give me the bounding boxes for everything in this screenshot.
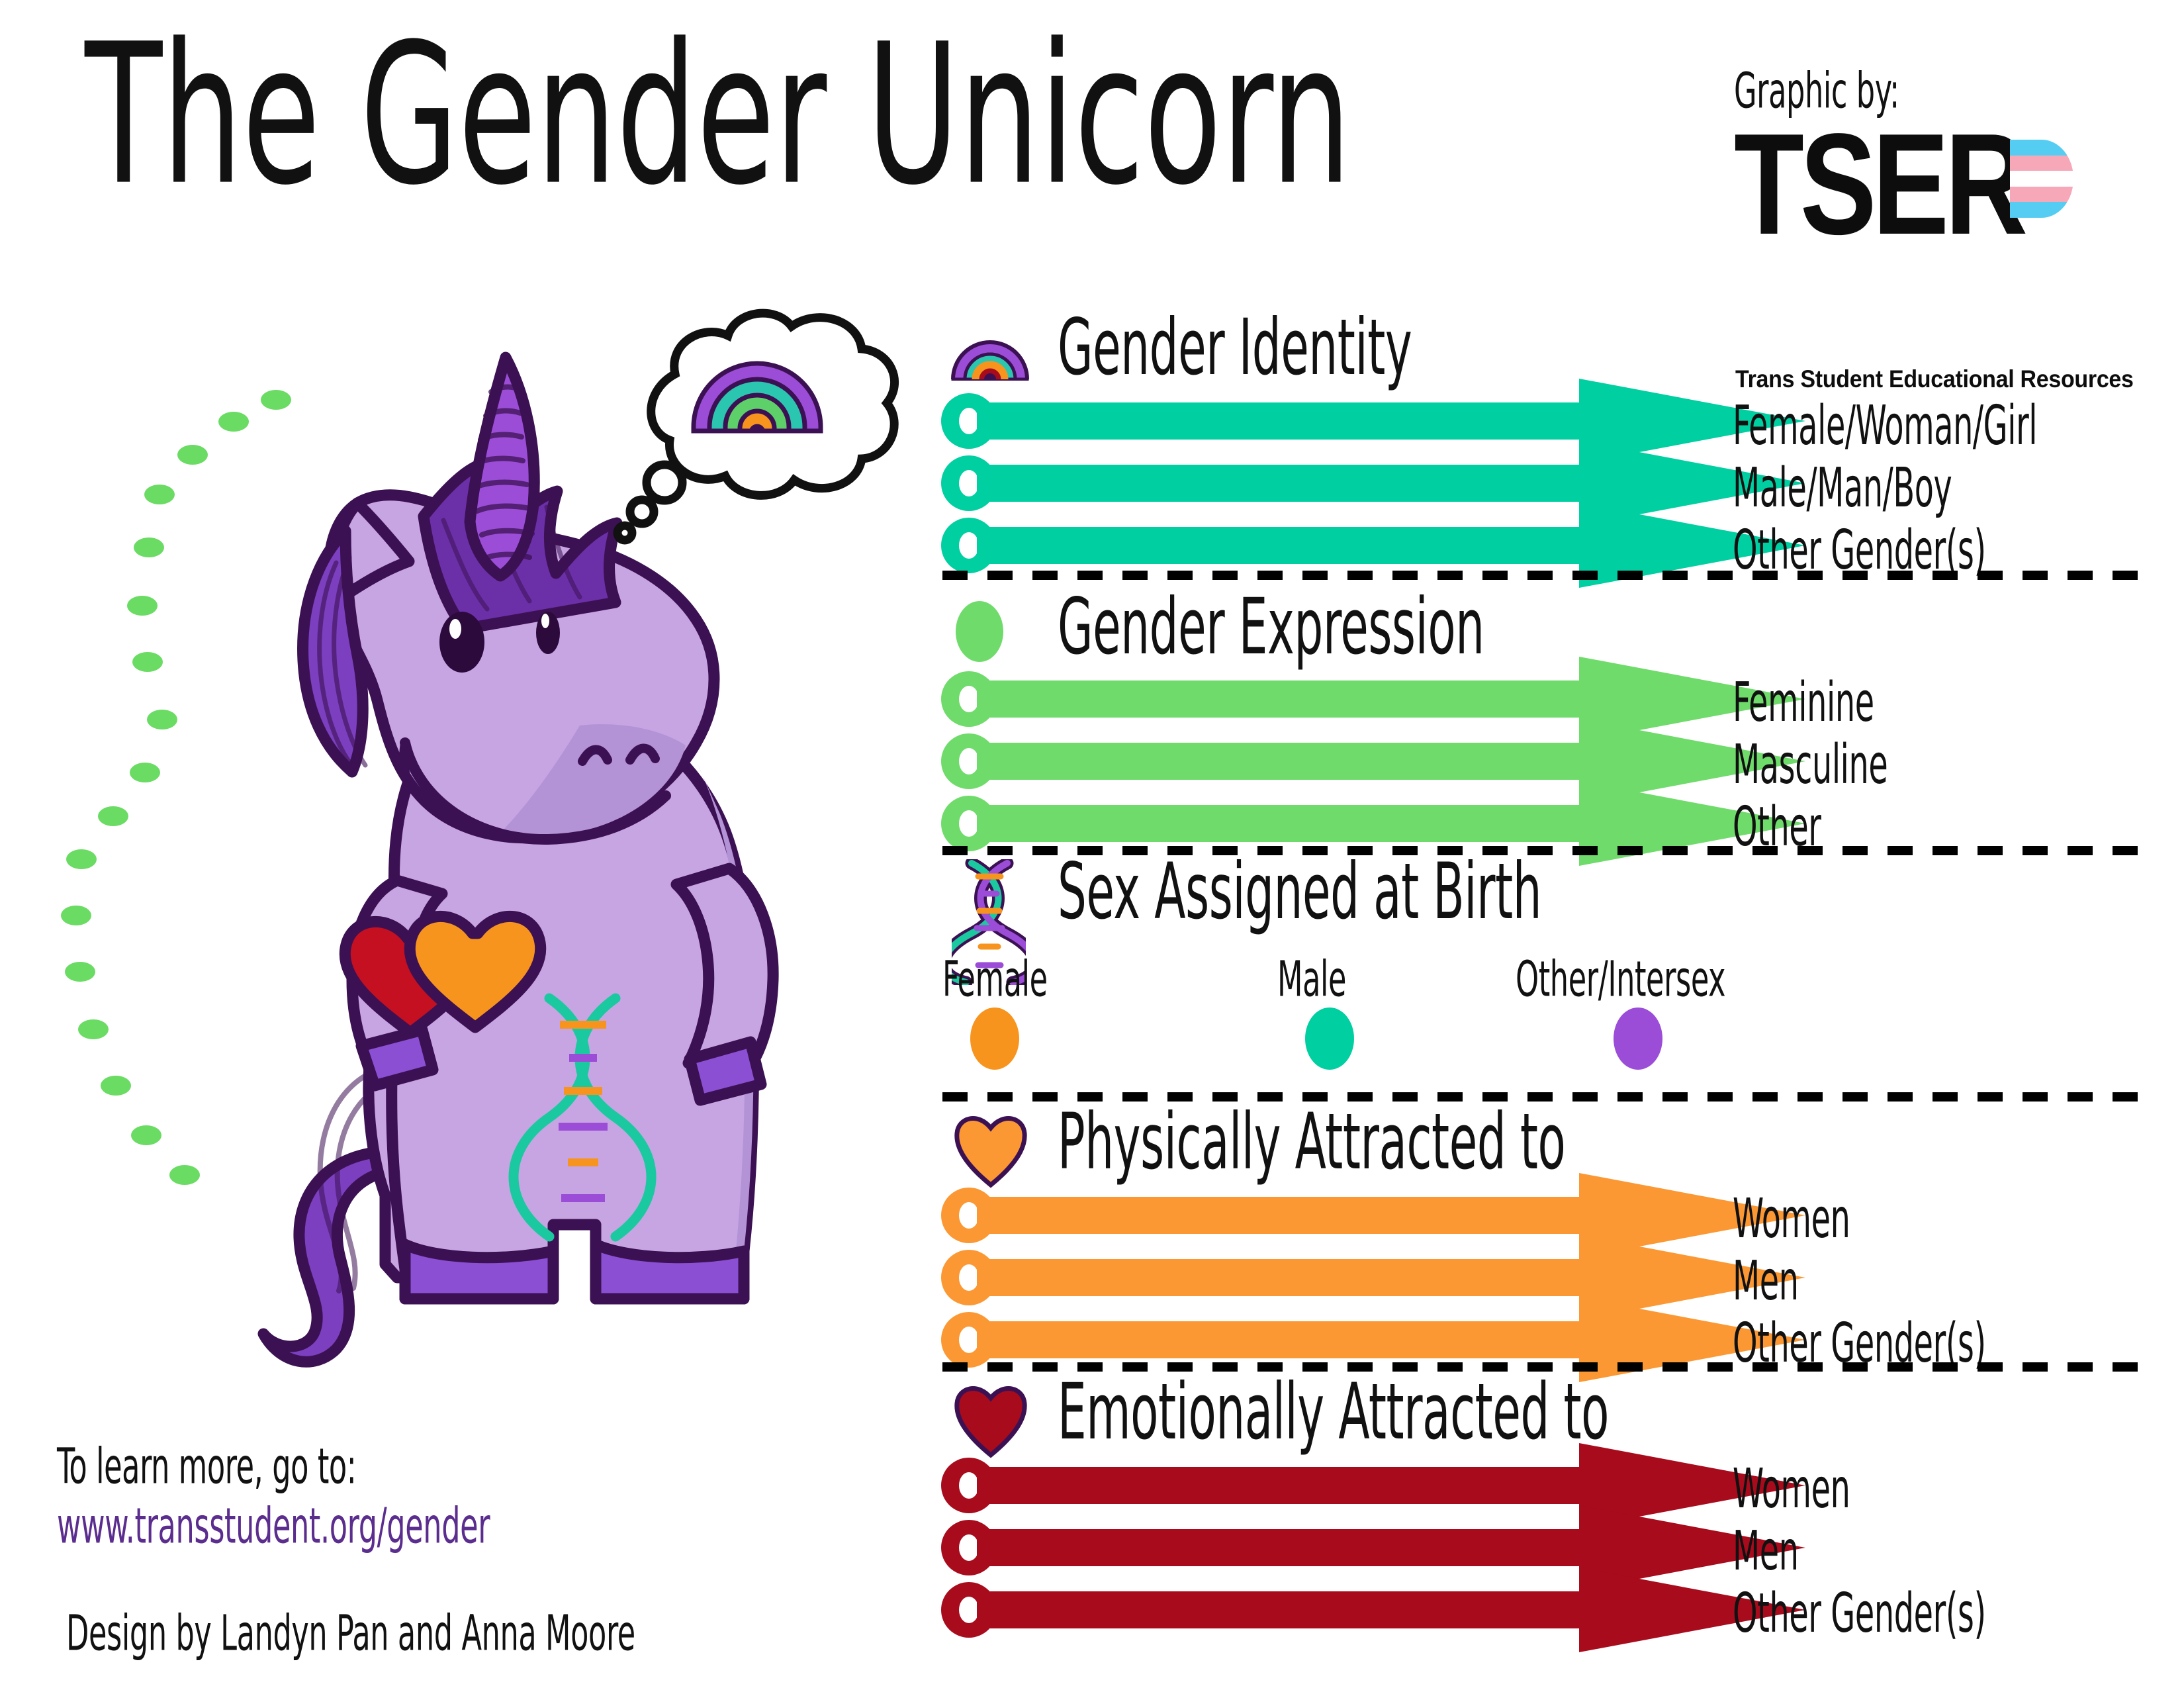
section-heading-emotionally-attracted-to: Emotionally Attracted to bbox=[1058, 1373, 1609, 1450]
arrow-row bbox=[941, 402, 1735, 440]
orange-heart-icon bbox=[952, 1111, 1030, 1189]
design-credit: Design by Landyn Pan and Anna Moore bbox=[66, 1609, 635, 1658]
website-link[interactable]: www.transstudent.org/gender bbox=[57, 1501, 490, 1550]
trans-flag-icon bbox=[2010, 140, 2073, 218]
sab-option-label: Male bbox=[1277, 955, 1346, 1004]
arrow-row bbox=[941, 805, 1735, 842]
arrow-row bbox=[941, 1259, 1735, 1296]
arrow-shaft bbox=[977, 402, 1592, 440]
arrow-row bbox=[941, 1529, 1735, 1566]
gender-unicorn-infographic: The Gender Unicorn Graphic by: TSER Tran… bbox=[0, 0, 2184, 1688]
section-heading-sex-assigned-at-birth: Sex Assigned at Birth bbox=[1058, 853, 1541, 930]
arrow-shaft bbox=[977, 1529, 1592, 1566]
tser-logo: TSER Trans Student Educational Resources bbox=[1734, 113, 2134, 391]
arrow-label: Other Gender(s) bbox=[1733, 1587, 1986, 1642]
rainbow-icon bbox=[949, 316, 1031, 381]
arrow-row bbox=[941, 1591, 1735, 1628]
section-heading-gender-expression: Gender Expression bbox=[1058, 588, 1484, 665]
sab-option-label: Female bbox=[942, 955, 1048, 1004]
arrow-shaft bbox=[977, 465, 1592, 502]
arrow-shaft bbox=[977, 805, 1592, 842]
arrow-shaft bbox=[977, 1259, 1592, 1296]
arrow-row bbox=[941, 527, 1735, 564]
sab-dot-other-intersex bbox=[1614, 1008, 1662, 1070]
arrow-shaft bbox=[977, 527, 1592, 564]
red-heart-icon bbox=[952, 1381, 1030, 1459]
tser-wordmark: TSER bbox=[1734, 113, 2142, 257]
green-circle-icon bbox=[956, 601, 1003, 662]
arrow-shaft bbox=[977, 743, 1592, 780]
arrow-shaft bbox=[977, 1467, 1592, 1504]
arrow-shaft bbox=[977, 1591, 1592, 1628]
section-heading-physically-attracted-to: Physically Attracted to bbox=[1058, 1103, 1565, 1180]
sab-option-label: Other/Intersex bbox=[1516, 955, 1725, 1004]
arrow-shaft bbox=[977, 680, 1592, 718]
arrow-shaft bbox=[977, 1197, 1592, 1234]
learn-more-label: To learn more, go to: bbox=[57, 1442, 356, 1491]
sab-dot-female bbox=[970, 1008, 1019, 1070]
arrow-row bbox=[941, 680, 1735, 718]
arrow-row bbox=[941, 1321, 1735, 1358]
arrow-shaft bbox=[977, 1321, 1592, 1358]
sab-dot-male bbox=[1305, 1008, 1354, 1070]
arrow-row bbox=[941, 743, 1735, 780]
arrow-row bbox=[941, 1197, 1735, 1234]
section-divider bbox=[942, 571, 2154, 580]
arrow-row bbox=[941, 1467, 1735, 1504]
section-heading-gender-identity: Gender Identity bbox=[1058, 308, 1412, 386]
arrow-row bbox=[941, 465, 1735, 502]
thought-bubble bbox=[596, 301, 913, 566]
